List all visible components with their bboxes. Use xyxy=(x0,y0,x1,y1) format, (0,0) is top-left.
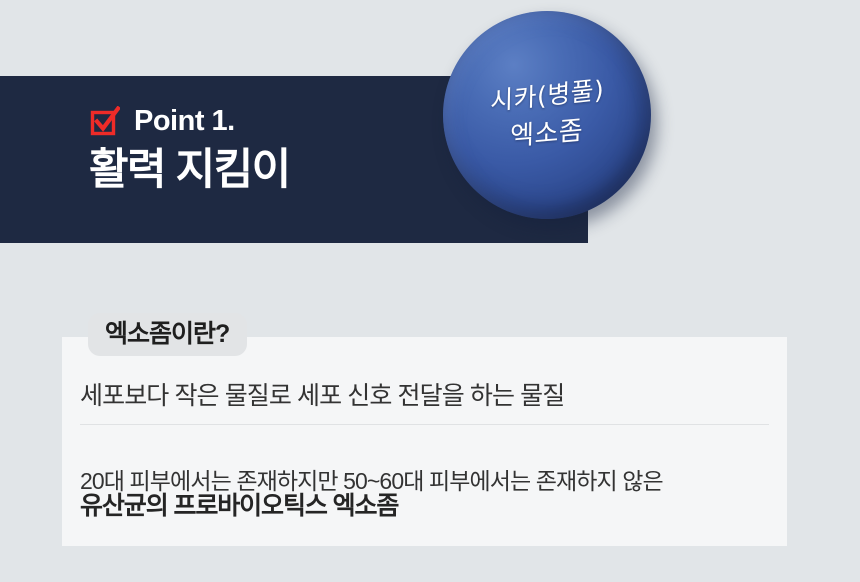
checkbox-checked-icon xyxy=(90,106,120,136)
card-divider xyxy=(80,424,769,425)
emphasis-text: 유산균의 프로바이오틱스 엑소좀 xyxy=(80,494,398,519)
badge-sphere: 시카(병풀) 엑소좀 xyxy=(443,11,651,219)
badge-line-1: 시카(병풀) xyxy=(490,77,604,114)
badge-line-2: 엑소좀 xyxy=(510,118,583,151)
point-label: Point 1. xyxy=(134,107,235,136)
description-text: 20대 피부에서는 존재하지만 50~60대 피부에서는 존재하지 않은 xyxy=(80,470,663,493)
ingredient-badge: 시카(병풀) 엑소좀 xyxy=(443,11,651,219)
definition-text: 세포보다 작은 물질로 세포 신호 전달을 하는 물질 xyxy=(80,384,564,409)
definition-chip-label: 엑소좀이란? xyxy=(105,322,229,347)
point-heading-row: Point 1. xyxy=(90,106,235,136)
definition-chip: 엑소좀이란? xyxy=(88,313,247,356)
page-title: 활력 지킴이 xyxy=(89,148,290,193)
